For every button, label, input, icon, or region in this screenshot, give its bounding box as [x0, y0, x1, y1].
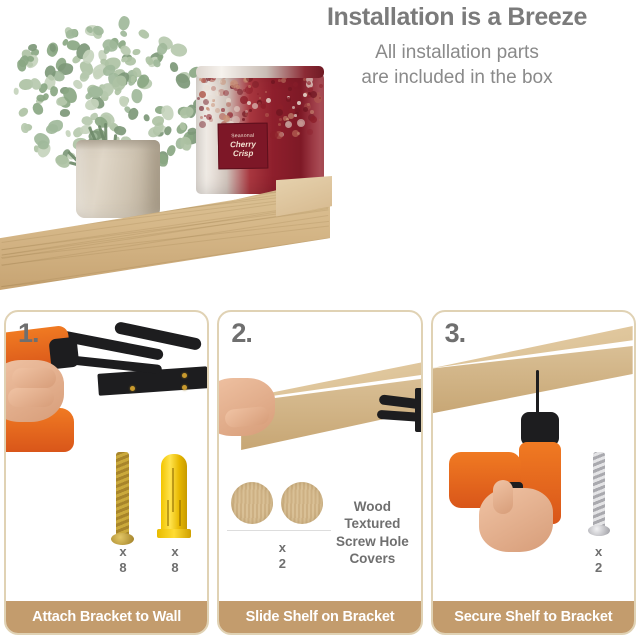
silver-screw-quantity: x 2	[584, 544, 614, 577]
covers-divider	[227, 530, 331, 531]
step-2-illustration: 2. x 2 Wood Textured Screw Hole Covers	[219, 312, 420, 601]
candle-jar-label: Seasonal Cherry Crisp	[218, 123, 269, 170]
cover-desc-line1: Wood	[327, 498, 417, 515]
qty-count: 2	[267, 556, 297, 572]
step-2-caption: Slide Shelf on Bracket	[219, 601, 420, 633]
qty-multiplier: x	[584, 544, 614, 560]
step-panel-1: 1. x 8	[4, 310, 209, 635]
step-panel-3: 3. x 2 Secure Shelf to Bracket	[431, 310, 636, 635]
qty-count: 8	[159, 560, 191, 576]
qty-count: 2	[584, 560, 614, 576]
step-1-number: 1.	[18, 318, 39, 349]
anchor-quantity: x 8	[159, 544, 191, 577]
qty-count: 8	[107, 560, 139, 576]
yellow-wall-anchor-icon	[161, 454, 187, 538]
screw-hole-cover-icon	[281, 482, 323, 524]
bracket-bolt	[182, 385, 187, 390]
hand-finger	[8, 388, 54, 407]
silver-set-screw-icon	[593, 452, 605, 530]
step-1-illustration: 1. x 8	[6, 312, 207, 601]
hero-text-block: Installation is a Breeze All installatio…	[282, 4, 632, 91]
cover-description: Wood Textured Screw Hole Covers	[327, 498, 417, 567]
mounted-bracket-arm	[377, 410, 421, 423]
step-3-caption: Secure Shelf to Bracket	[433, 601, 634, 633]
cover-desc-line4: Covers	[327, 550, 417, 567]
shelf-slab-face	[433, 346, 633, 416]
hero-subtitle-line1: All installation parts	[282, 40, 632, 66]
cover-quantity: x 2	[267, 540, 297, 573]
hand	[479, 488, 553, 552]
step-1-caption: Attach Bracket to Wall	[6, 601, 207, 633]
bracket-bolt	[130, 386, 135, 391]
hero-section: Seasonal Cherry Crisp Installation is a …	[0, 0, 640, 305]
screw-hole-cover-icon	[231, 482, 273, 524]
cover-desc-line2: Textured	[327, 515, 417, 532]
page-title: Installation is a Breeze	[282, 4, 632, 32]
bracket-bolt	[182, 373, 187, 378]
jar-label-line1: Cherry	[230, 139, 256, 149]
qty-multiplier: x	[267, 540, 297, 556]
hand-finger	[493, 480, 513, 514]
steps-row: 1. x 8	[0, 310, 640, 635]
step-3-number: 3.	[445, 318, 466, 349]
hero-subtitle-line2: are included in the box	[282, 65, 632, 91]
step-3-illustration: 3. x 2	[433, 312, 634, 601]
step-panel-2: 2. x 2 Wood Textured Screw Hole Covers	[217, 310, 422, 635]
mounted-bracket-plate	[415, 388, 420, 432]
qty-multiplier: x	[159, 544, 191, 560]
hero-subtitle: All installation parts are included in t…	[282, 40, 632, 91]
jar-label-line2: Crisp	[233, 149, 254, 159]
gold-wall-screw-icon	[116, 452, 129, 538]
drill-bit	[536, 370, 539, 414]
hand-finger	[12, 368, 56, 388]
step-2-number: 2.	[231, 318, 252, 349]
cover-desc-line3: Screw Hole	[327, 533, 417, 550]
gold-screw-quantity: x 8	[107, 544, 139, 577]
drill-chuck	[521, 412, 559, 446]
plant-pot	[76, 140, 160, 218]
qty-multiplier: x	[107, 544, 139, 560]
